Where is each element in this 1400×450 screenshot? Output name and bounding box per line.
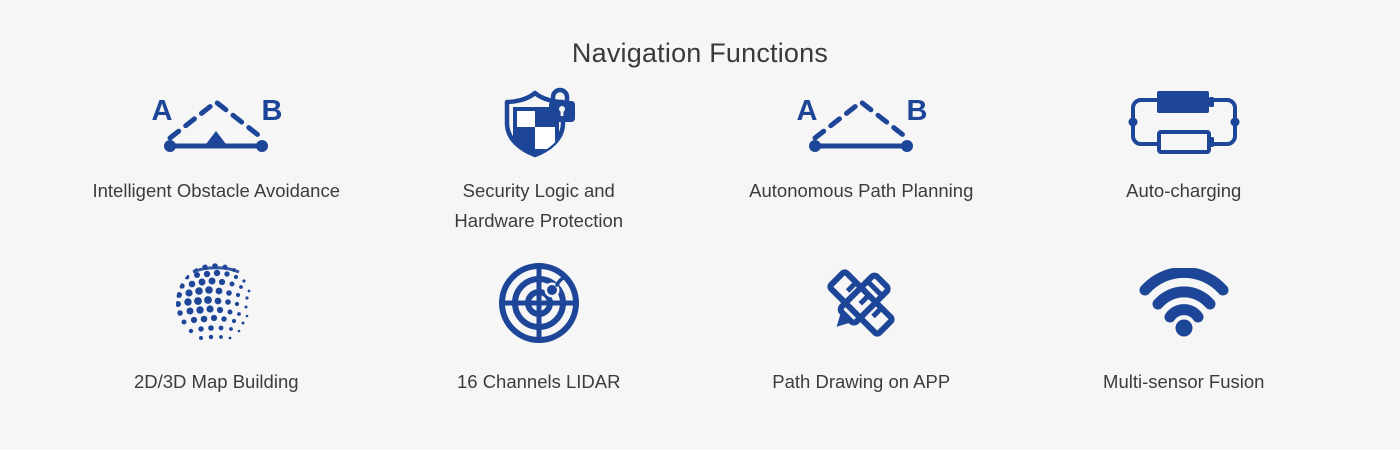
feature-item-lidar[interactable]: 16 Channels LIDAR bbox=[378, 257, 701, 432]
feature-label: Security Logic and Hardware Protection bbox=[454, 176, 623, 236]
pencil-ruler-icon bbox=[819, 261, 903, 345]
battery-charging-circuit-icon bbox=[1123, 84, 1245, 160]
feature-item-map-building[interactable]: 2D/3D Map Building bbox=[55, 257, 378, 432]
feature-label: Autonomous Path Planning bbox=[749, 176, 973, 206]
navigation-functions-panel: Navigation Functions A B bbox=[0, 0, 1400, 450]
page-title: Navigation Functions bbox=[0, 0, 1400, 70]
icon-container bbox=[497, 82, 581, 162]
node-a-label: A bbox=[152, 95, 173, 127]
feature-item-obstacle-avoidance[interactable]: A B Intelligent Obstacle Avoidance bbox=[55, 82, 378, 257]
wifi-signal-icon bbox=[1138, 268, 1230, 338]
feature-label: Auto-charging bbox=[1126, 176, 1241, 206]
node-b-label: B bbox=[262, 95, 283, 127]
icon-container bbox=[497, 257, 581, 349]
icon-container bbox=[1138, 257, 1230, 349]
path-planning-icon: A B bbox=[791, 86, 931, 158]
icon-container bbox=[173, 257, 259, 349]
feature-item-multi-sensor-fusion[interactable]: Multi-sensor Fusion bbox=[1023, 257, 1346, 432]
feature-label: Multi-sensor Fusion bbox=[1103, 367, 1264, 397]
shield-lock-icon bbox=[497, 85, 581, 159]
feature-item-path-drawing[interactable]: Path Drawing on APP bbox=[700, 257, 1023, 432]
feature-item-security-logic[interactable]: Security Logic and Hardware Protection bbox=[378, 82, 701, 257]
node-a-label: A bbox=[797, 95, 818, 127]
feature-label: Intelligent Obstacle Avoidance bbox=[92, 176, 340, 206]
feature-item-auto-charging[interactable]: Auto-charging bbox=[1023, 82, 1346, 257]
feature-item-path-planning[interactable]: A B Autonomous Path Planning bbox=[700, 82, 1023, 257]
obstacle-avoidance-icon: A B bbox=[146, 86, 286, 158]
icon-container bbox=[1123, 82, 1245, 162]
feature-label: 16 Channels LIDAR bbox=[457, 367, 621, 397]
icon-container: A B bbox=[791, 82, 931, 162]
feature-label: 2D/3D Map Building bbox=[134, 367, 299, 397]
icon-container bbox=[819, 257, 903, 349]
node-b-label: B bbox=[907, 95, 928, 127]
dotted-globe-icon bbox=[173, 260, 259, 346]
icon-container: A B bbox=[146, 82, 286, 162]
feature-label: Path Drawing on APP bbox=[772, 367, 950, 397]
radar-target-icon bbox=[497, 261, 581, 345]
feature-grid: A B Intelligent Obstacle Avoidance bbox=[55, 82, 1345, 432]
